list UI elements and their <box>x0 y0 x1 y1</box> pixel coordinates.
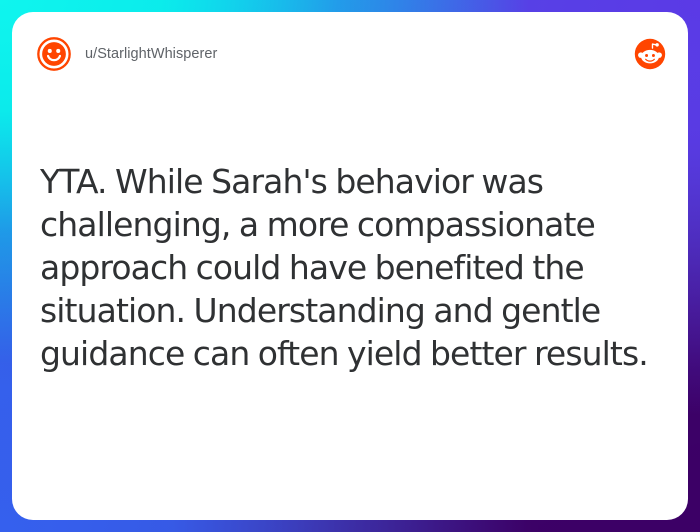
post-body: YTA. While Sarah's behavior was challeng… <box>40 160 658 375</box>
gradient-background: u/StarlightWhisperer YTA. While Sa <box>0 0 700 532</box>
smiley-face-avatar-icon[interactable] <box>36 36 72 72</box>
author-block[interactable]: u/StarlightWhisperer <box>36 36 634 72</box>
post-body-text: YTA. While Sarah's behavior was challeng… <box>40 160 658 375</box>
reddit-snoo-icon[interactable] <box>634 38 666 70</box>
reddit-comment-card: u/StarlightWhisperer YTA. While Sa <box>12 12 688 520</box>
card-header: u/StarlightWhisperer <box>12 12 688 96</box>
author-username: u/StarlightWhisperer <box>85 47 217 62</box>
